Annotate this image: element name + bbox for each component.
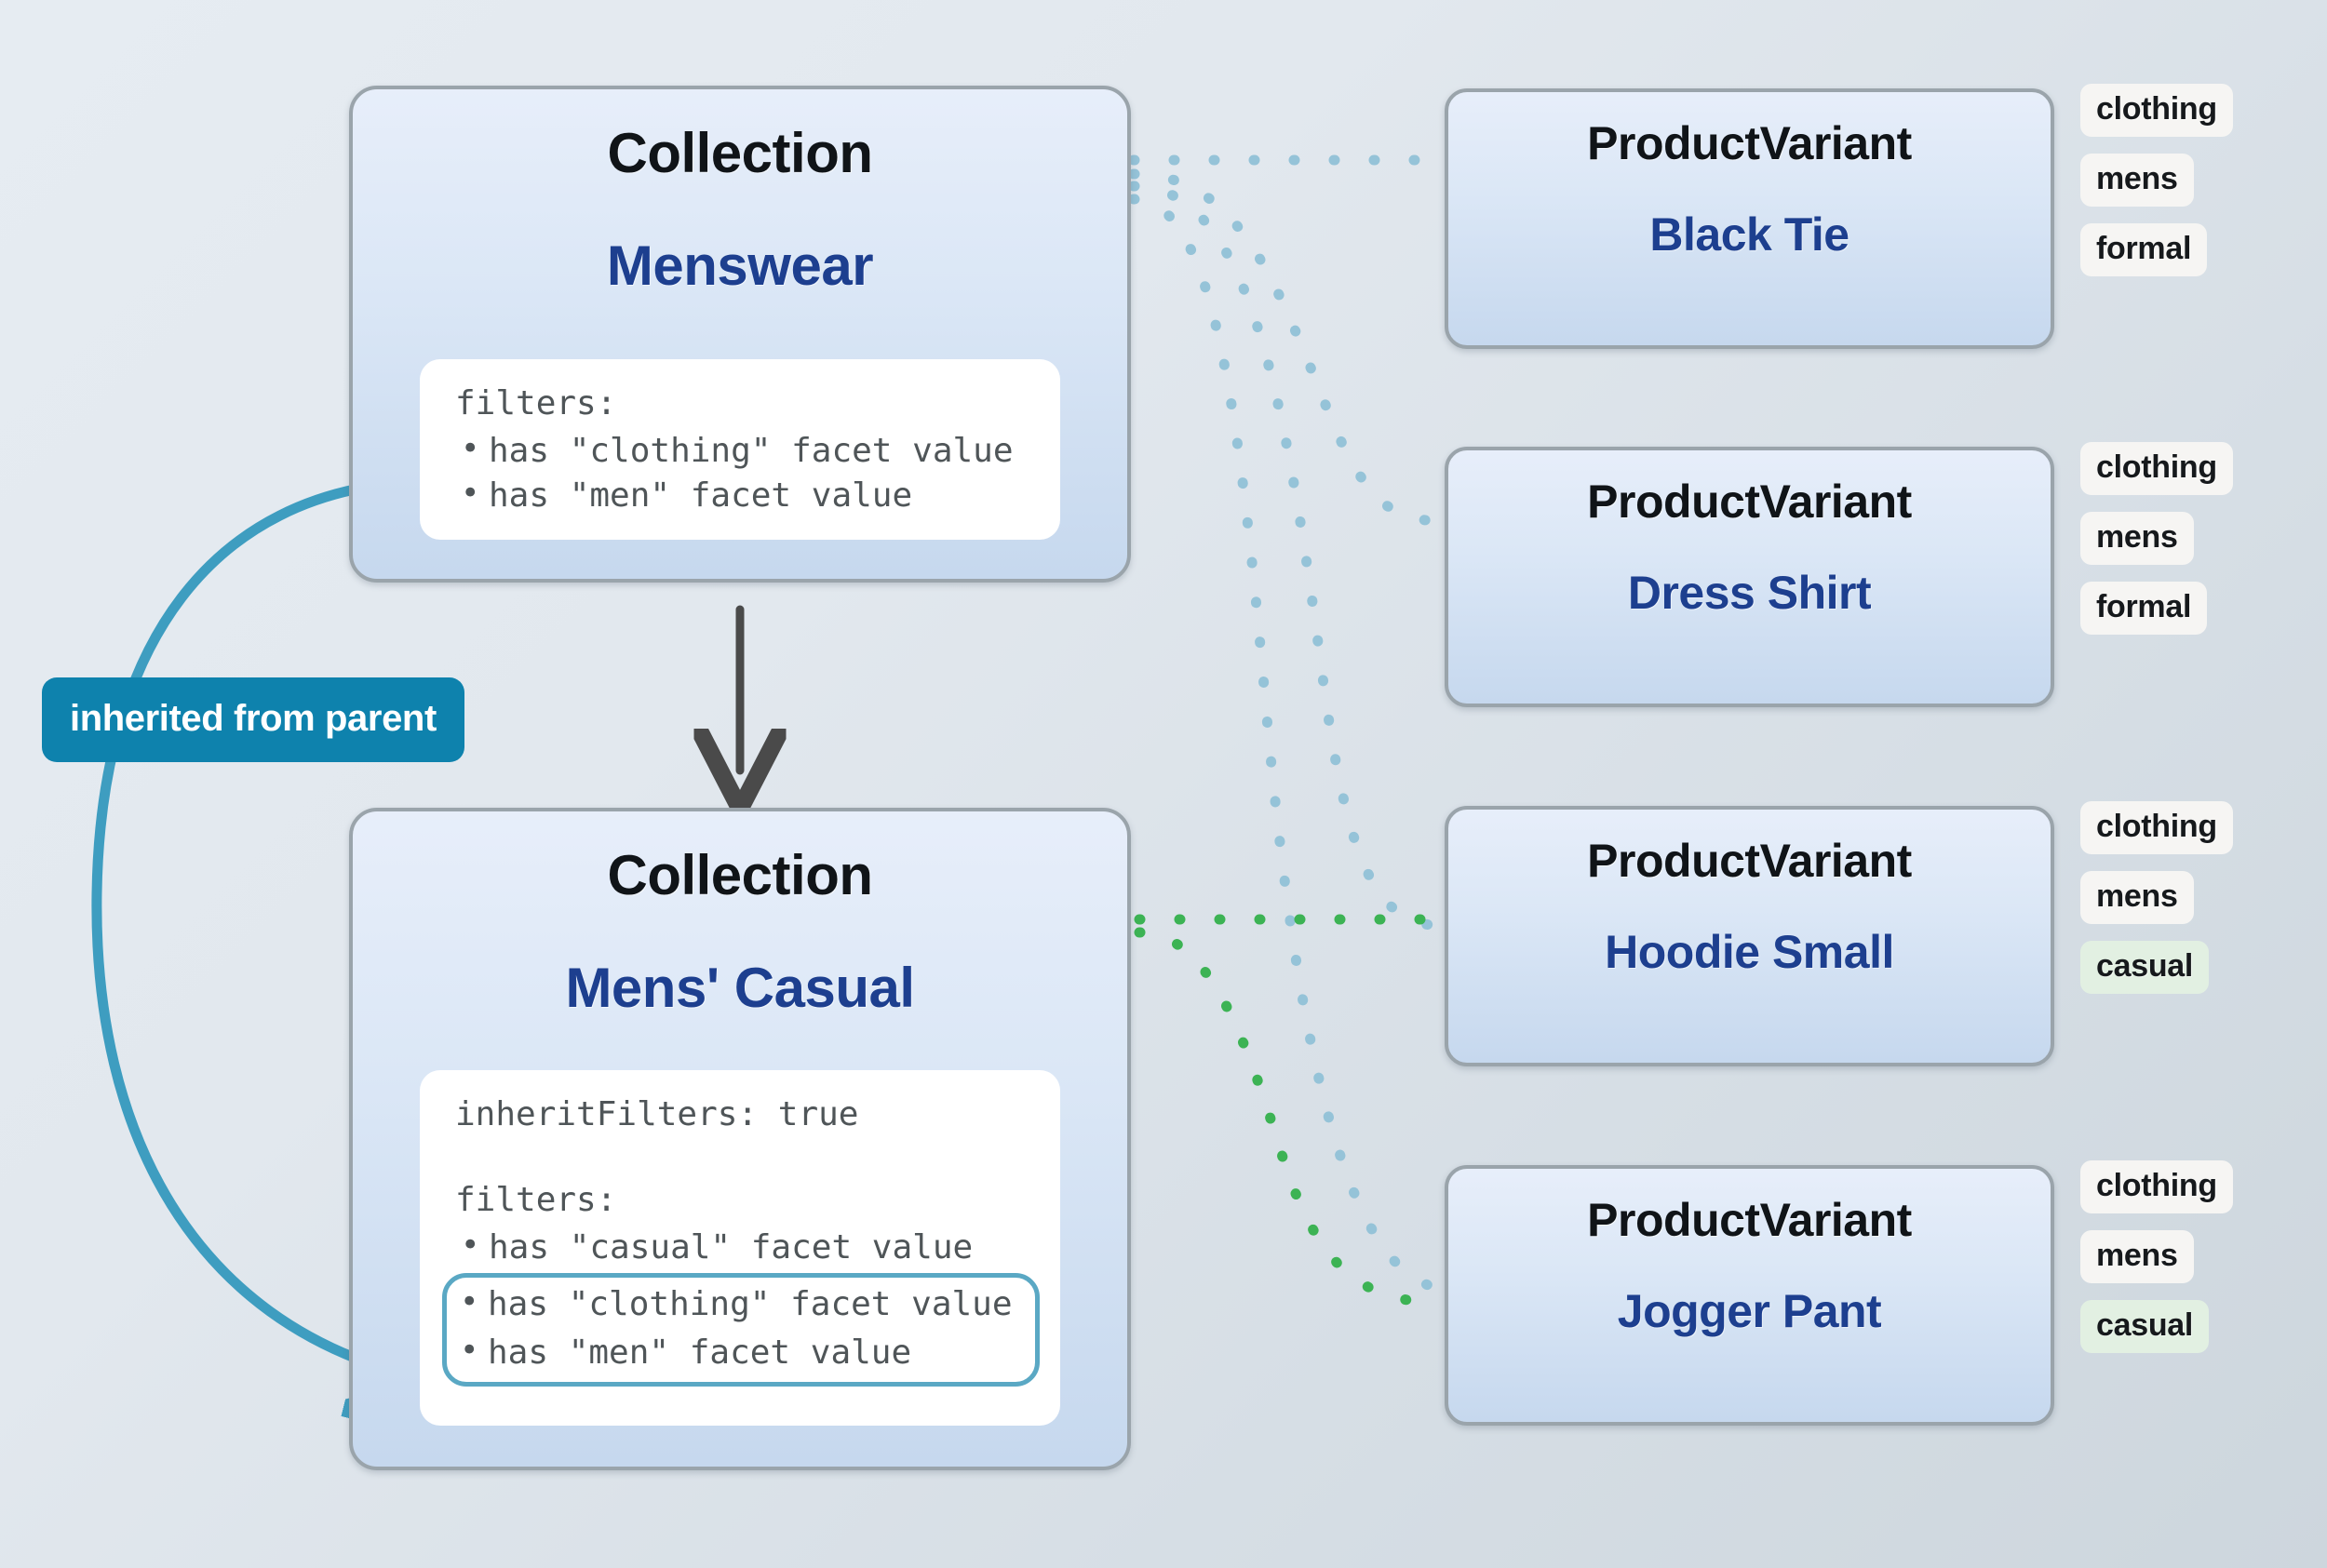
facet-tag: mens (2080, 154, 2194, 207)
wire-casual-jogger (1139, 932, 1445, 1303)
facet-tag: clothing (2080, 1160, 2233, 1213)
variant-name-label: Jogger Pant (1448, 1284, 2051, 1338)
diagram-canvas: Collection Menswear filters: has "clothi… (0, 0, 2327, 1568)
filter-item: has "clothing" facet value (452, 1283, 1026, 1326)
variant-name-label: Dress Shirt (1448, 566, 2051, 620)
facet-tag-group-dress-shirt: clothing mens formal (2080, 442, 2304, 651)
collection-card-menswear[interactable]: Collection Menswear filters: has "clothi… (349, 86, 1131, 583)
filter-list-inherited: has "clothing" facet value has "men" fac… (452, 1283, 1026, 1374)
filters-key-label: filters: (455, 387, 1027, 421)
wires-mens-casual (1139, 919, 1445, 1303)
facet-tag: clothing (2080, 84, 2233, 137)
filters-panel-menswear: filters: has "clothing" facet value has … (420, 359, 1060, 540)
product-variant-card-dress-shirt[interactable]: ProductVariant Dress Shirt (1445, 447, 2054, 707)
variant-type-label: ProductVariant (1448, 116, 2051, 170)
filter-list-own: has "clothing" facet value has "men" fac… (453, 430, 1027, 517)
facet-tag: mens (2080, 512, 2194, 565)
filter-item: has "men" facet value (452, 1332, 1026, 1374)
product-variant-card-hoodie-small[interactable]: ProductVariant Hoodie Small (1445, 806, 2054, 1066)
facet-tag: clothing (2080, 442, 2233, 495)
collection-card-mens-casual[interactable]: Collection Mens' Casual inheritFilters: … (349, 808, 1131, 1470)
facet-tag: mens (2080, 1230, 2194, 1283)
wires-menswear (1134, 160, 1445, 1289)
facet-tag: formal (2080, 223, 2207, 276)
panel-spacer (453, 1145, 1027, 1184)
filter-list-own: has "casual" facet value (453, 1226, 1027, 1269)
facet-tag-group-jogger-pant: clothing mens casual (2080, 1160, 2304, 1370)
facet-tag: casual (2080, 941, 2209, 994)
wire-menswear-hoodie (1134, 186, 1445, 926)
filter-item: has "men" facet value (453, 475, 1027, 517)
variant-type-label: ProductVariant (1448, 834, 2051, 888)
inherited-from-parent-badge: inherited from parent (42, 677, 464, 762)
product-variant-card-jogger-pant[interactable]: ProductVariant Jogger Pant (1445, 1165, 2054, 1426)
facet-tag-group-black-tie: clothing mens formal (2080, 84, 2304, 293)
wire-menswear-jogger (1134, 199, 1445, 1289)
collection-type-label: Collection (353, 121, 1127, 185)
wire-menswear-dress-shirt (1134, 174, 1445, 521)
facet-tag: casual (2080, 1300, 2209, 1353)
variant-type-label: ProductVariant (1448, 475, 2051, 529)
filter-item: has "clothing" facet value (453, 430, 1027, 473)
variant-type-label: ProductVariant (1448, 1193, 2051, 1247)
inherit-filters-line: inheritFilters: true (455, 1098, 1027, 1132)
facet-tag: mens (2080, 871, 2194, 924)
variant-name-label: Hoodie Small (1448, 925, 2051, 979)
filters-key-label: filters: (455, 1184, 1027, 1217)
facet-tag: clothing (2080, 801, 2233, 854)
collection-name-label: Menswear (353, 234, 1127, 298)
collection-type-label: Collection (353, 843, 1127, 907)
collection-name-label: Mens' Casual (353, 956, 1127, 1020)
variant-name-label: Black Tie (1448, 208, 2051, 261)
product-variant-card-black-tie[interactable]: ProductVariant Black Tie (1445, 88, 2054, 349)
inherited-filters-highlight: has "clothing" facet value has "men" fac… (442, 1273, 1040, 1387)
facet-tag-group-hoodie-small: clothing mens casual (2080, 801, 2304, 1011)
filter-item: has "casual" facet value (453, 1226, 1027, 1269)
filters-panel-mens-casual: inheritFilters: true filters: has "casua… (420, 1070, 1060, 1426)
facet-tag: formal (2080, 582, 2207, 635)
